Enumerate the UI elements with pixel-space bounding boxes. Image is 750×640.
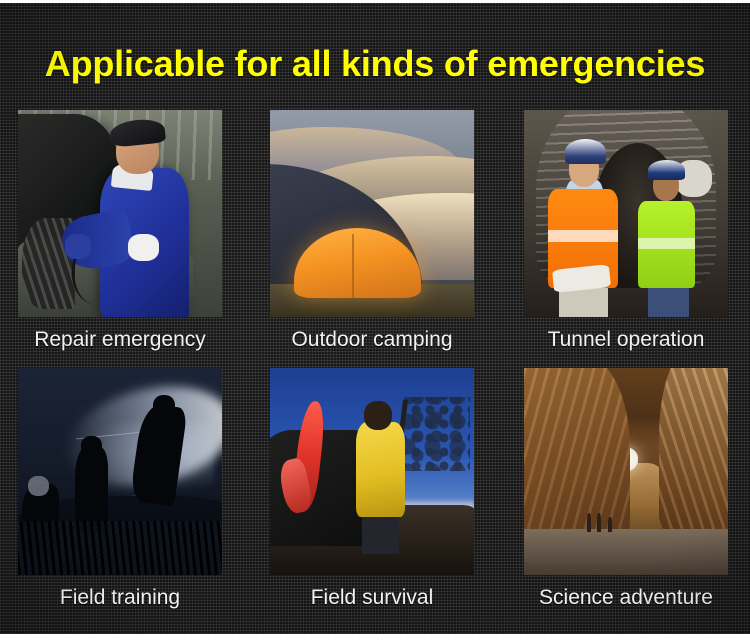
grid-row: Repair emergency Outdoor camping [0, 110, 750, 368]
caption-repair-emergency: Repair emergency [18, 327, 222, 353]
thumbnail-field-training [18, 368, 222, 575]
hunter-head [364, 401, 393, 430]
hunter-yellow-shirt [356, 422, 405, 517]
scene-cave-arch-explorers [524, 368, 728, 575]
cave-floor [524, 529, 728, 575]
caption-field-survival: Field survival [270, 585, 474, 611]
birds-flock [405, 397, 470, 472]
soldier-three-helmet [28, 476, 48, 497]
use-case-cell-outdoor-camping: Outdoor camping [270, 110, 474, 353]
top-edge-strip [0, 0, 750, 3]
emergency-use-cases-poster: Applicable for all kinds of emergencies [0, 0, 750, 640]
foreground-grass [18, 521, 222, 575]
bottom-edge-strip [0, 634, 750, 640]
use-case-cell-tunnel-operation: Tunnel operation [524, 110, 728, 353]
scene-two-tunnel-workers [524, 110, 728, 317]
caption-tunnel-operation: Tunnel operation [524, 327, 728, 353]
thumbnail-science-adventure [524, 368, 728, 575]
worker-two-helmet [648, 160, 685, 181]
worker-one-vest-stripe [548, 230, 617, 242]
thumbnail-tunnel-operation [524, 110, 728, 317]
scene-night-soldier-silhouettes [18, 368, 222, 575]
use-case-grid: Repair emergency Outdoor camping [0, 110, 750, 626]
tent-seam [352, 234, 354, 298]
scene-hunter-with-rifle [270, 368, 474, 575]
scene-tent-in-mountains [270, 110, 474, 317]
mechanic-glove-left [65, 234, 92, 259]
use-case-cell-field-survival: Field survival [270, 368, 474, 611]
caption-outdoor-camping: Outdoor camping [270, 327, 474, 353]
thumbnail-repair-emergency [18, 110, 222, 317]
explorer-figure [587, 513, 591, 532]
caption-science-adventure: Science adventure [524, 585, 728, 611]
worker-two-legs [648, 284, 689, 317]
scene-mechanic-under-car [18, 110, 222, 317]
worker-one-helmet [565, 139, 606, 164]
worker-two-vest-stripe [638, 238, 695, 248]
use-case-cell-repair-emergency: Repair emergency [18, 110, 222, 353]
soldier-one-helmet [153, 395, 175, 418]
caption-field-training: Field training [18, 585, 222, 611]
page-title: Applicable for all kinds of emergencies [0, 44, 750, 84]
explorer-figure [608, 517, 612, 531]
thumbnail-field-survival [270, 368, 474, 575]
thumbnail-outdoor-camping [270, 110, 474, 317]
grid-row: Field training [0, 368, 750, 626]
mechanic-glove-right [128, 234, 159, 261]
use-case-cell-field-training: Field training [18, 368, 222, 611]
soldier-two-helmet [81, 436, 101, 457]
use-case-cell-science-adventure: Science adventure [524, 368, 728, 611]
